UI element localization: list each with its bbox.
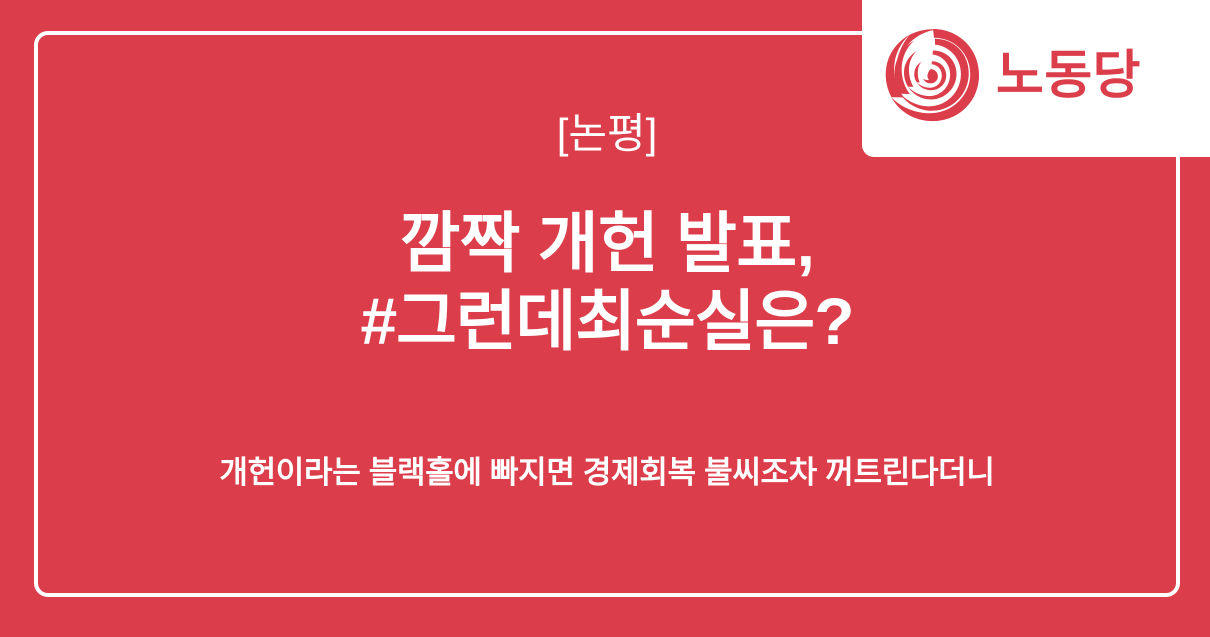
- poster-card: 노동당 [논평] 깜짝 개헌 발표, #그런데최순실은? 개헌이라는 블랙홀에 …: [0, 0, 1210, 637]
- subtitle-text: 개헌이라는 블랙홀에 빠지면 경제회복 불씨조차 꺼트린다더니: [34, 453, 1180, 493]
- page-title: 깜짝 개헌 발표, #그런데최순실은?: [34, 205, 1180, 361]
- kicker-label: [논평]: [34, 113, 1180, 155]
- headline-line-1: 깜짝 개헌 발표,: [34, 205, 1180, 283]
- headline-line-2: #그런데최순실은?: [34, 283, 1180, 361]
- poster-content: [논평] 깜짝 개헌 발표, #그런데최순실은? 개헌이라는 블랙홀에 빠지면 …: [34, 31, 1180, 597]
